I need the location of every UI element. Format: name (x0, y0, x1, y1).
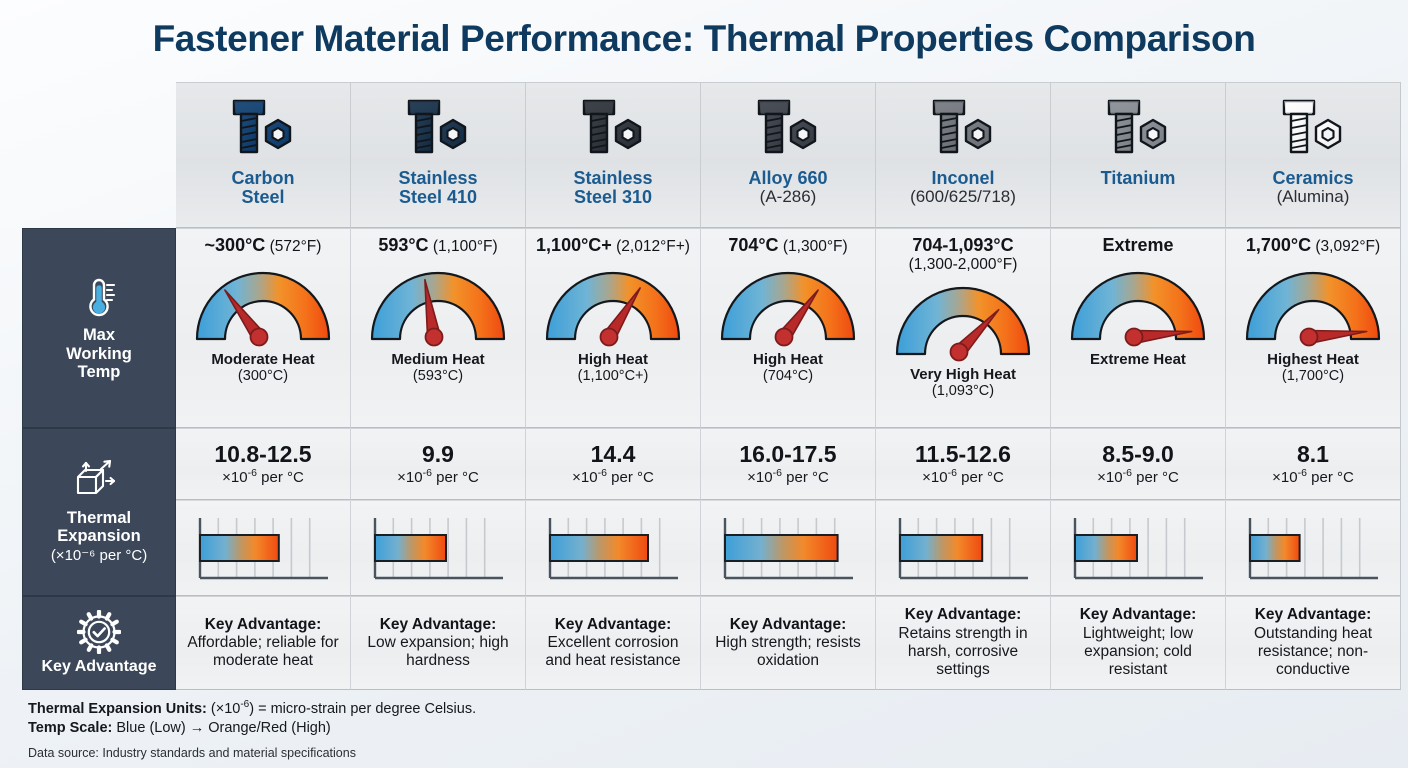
temp-label-sub: (704°C) (753, 368, 823, 385)
heat-gauge-wrap (189, 259, 337, 347)
heat-gauge (889, 276, 1037, 362)
row-label-thermal-expansion: ThermalExpansion(×10⁻⁶ per °C) (22, 428, 176, 596)
heat-gauge-wrap (714, 259, 862, 347)
thermal-expansion-cell-7: 8.1×10-6 per °C (1226, 428, 1401, 596)
expansion-unit: ×10-6 per °C (222, 467, 304, 486)
max-temp-cell-4: 704°C (1,300°F)High Heat(704°C) (701, 228, 876, 428)
temp-label-sub: (1,700°C) (1267, 368, 1359, 385)
expansion-bar-cell (351, 500, 526, 596)
key-advantage-cell-5: Key Advantage:Retains strength in harsh,… (876, 596, 1051, 690)
expansion-value-cell: 8.5-9.0×10-6 per °C (1051, 428, 1226, 500)
expansion-bar-cell (1051, 500, 1226, 596)
heat-gauge (364, 261, 512, 347)
max-temp-cell-1: ~300°C (572°F)Moderate Heat(300°C) (176, 228, 351, 428)
expansion-bar-chart (367, 510, 509, 586)
heat-gauge-wrap (539, 259, 687, 347)
temp-label-sub: (593°C) (391, 368, 484, 385)
expansion-value: 9.9 (422, 442, 454, 466)
row-label-text: ThermalExpansion(×10⁻⁶ per °C) (51, 509, 147, 565)
temp-celsius: Extreme (1102, 235, 1173, 255)
heat-gauge-wrap (889, 274, 1037, 362)
temp-fahrenheit: (572°F) (265, 238, 321, 255)
heat-gauge (1064, 261, 1212, 347)
column-header-4: Alloy 660(A-286) (701, 82, 876, 228)
footer-units-post: ) = micro-strain per degree Celsius. (249, 701, 476, 717)
column-name: Titanium (1101, 169, 1176, 188)
expansion-bar-cell (526, 500, 701, 596)
expansion-unit: ×10-6 per °C (572, 467, 654, 486)
temp-fahrenheit: (1,300°F) (779, 238, 848, 255)
temp-value: 704°C (1,300°F) (728, 235, 847, 259)
temp-fahrenheit: (2,012°F+) (612, 238, 690, 255)
heat-gauge-wrap (1064, 259, 1212, 347)
heat-rating-label: High Heat(704°C) (753, 351, 823, 385)
expansion-value-cell: 8.1×10-6 per °C (1226, 428, 1401, 500)
bolt-and-nut-icon (751, 90, 825, 168)
temp-value: ~300°C (572°F) (205, 235, 322, 259)
key-advantage-cell-6: Key Advantage:Lightweight; low expansion… (1051, 596, 1226, 690)
column-header-2: StainlessSteel 410 (351, 82, 526, 228)
expansion-value-cell: 10.8-12.5×10-6 per °C (176, 428, 351, 500)
footer-notes: Thermal Expansion Units: (×10-6) = micro… (28, 698, 928, 760)
column-header-1: CarbonSteel (176, 82, 351, 228)
temp-label-sub: (1,093°C) (910, 383, 1016, 400)
column-subtitle: (A-286) (760, 188, 817, 207)
bolt-and-nut-icon (1276, 95, 1350, 163)
bolt-and-nut-icon (1101, 95, 1175, 163)
heat-gauge (189, 261, 337, 347)
key-advantage-title: Key Advantage: (555, 616, 672, 634)
column-header-3: StainlessSteel 310 (526, 82, 701, 228)
bolt-and-nut-icon (751, 95, 825, 163)
column-header-7: Ceramics(Alumina) (1226, 82, 1401, 228)
thermal-expansion-cell-3: 14.4×10-6 per °C (526, 428, 701, 596)
bolt-and-nut-icon (401, 95, 475, 163)
expansion-bar-cell (701, 500, 876, 596)
temp-label-sub: (1,100°C+) (578, 368, 649, 385)
key-advantage-text: Affordable; reliable for moderate heat (183, 634, 343, 671)
heat-rating-label: Very High Heat(1,093°C) (910, 366, 1016, 400)
bolt-and-nut-icon (576, 90, 650, 168)
max-temp-cell-2: 593°C (1,100°F)Medium Heat(593°C) (351, 228, 526, 428)
heat-gauge (714, 261, 862, 347)
key-advantage-text: Outstanding heat resistance; non-conduct… (1233, 625, 1393, 680)
key-advantage-cell-2: Key Advantage:Low expansion; high hardne… (351, 596, 526, 690)
key-advantage-cell-1: Key Advantage:Affordable; reliable for m… (176, 596, 351, 690)
row-label-text: MaxWorkingTemp (66, 326, 132, 381)
heat-gauge-wrap (1239, 259, 1387, 347)
key-advantage-title: Key Advantage: (1255, 606, 1372, 624)
expansion-bar-cell (1226, 500, 1401, 596)
thermometer-icon (77, 274, 121, 318)
bolt-and-nut-icon (1276, 90, 1350, 168)
key-advantage-text: Retains strength in harsh, corrosive set… (883, 625, 1043, 680)
footer-source: Data source: Industry standards and mate… (28, 746, 928, 760)
footer-units-sup: -6 (240, 699, 249, 710)
temp-value: 1,700°C (3,092°F) (1246, 235, 1380, 259)
expansion-value-cell: 9.9×10-6 per °C (351, 428, 526, 500)
heat-gauge (539, 261, 687, 347)
temp-celsius: 593°C (378, 235, 428, 255)
column-name: Ceramics (1272, 169, 1353, 188)
temp-value: 704-1,093°C(1,300-2,000°F) (909, 235, 1018, 274)
expansion-value-cell: 16.0-17.5×10-6 per °C (701, 428, 876, 500)
temp-celsius: 704°C (728, 235, 778, 255)
footer-scale-text: Blue (Low) → Orange/Red (High) (112, 720, 330, 736)
key-advantage-text: Low expansion; high hardness (358, 634, 518, 671)
heat-gauge-wrap (364, 259, 512, 347)
expansion-bar-cell (176, 500, 351, 596)
key-advantage-text: Excellent corrosion and heat resistance (533, 634, 693, 671)
column-header-5: Inconel(600/625/718) (876, 82, 1051, 228)
expansion-value-cell: 14.4×10-6 per °C (526, 428, 701, 500)
column-name: CarbonSteel (232, 169, 295, 208)
heat-rating-label: High Heat(1,100°C+) (578, 351, 649, 385)
thermal-expansion-cell-5: 11.5-12.6×10-6 per °C (876, 428, 1051, 596)
max-temp-cell-6: ExtremeExtreme Heat (1051, 228, 1226, 428)
row-label-max-working-temp: MaxWorkingTemp (22, 228, 176, 428)
table-corner (22, 82, 176, 228)
infographic-page: Fastener Material Performance: Thermal P… (0, 0, 1408, 768)
expansion-unit: ×10-6 per °C (922, 467, 1004, 486)
key-advantage-text: Lightweight; low expansion; cold resista… (1058, 625, 1218, 680)
expansion-cube-icon (70, 459, 128, 501)
column-name: Alloy 660 (748, 169, 827, 188)
column-subtitle: (Alumina) (1277, 188, 1350, 207)
column-name: StainlessSteel 310 (573, 169, 652, 208)
row-label-sub: (×10⁻⁶ per °C) (51, 547, 147, 564)
max-temp-cell-5: 704-1,093°C(1,300-2,000°F)Very High Heat… (876, 228, 1051, 428)
temp-celsius: 1,700°C (1246, 235, 1311, 255)
thermal-expansion-cell-4: 16.0-17.5×10-6 per °C (701, 428, 876, 596)
expansion-unit: ×10-6 per °C (747, 467, 829, 486)
column-header-6: Titanium (1051, 82, 1226, 228)
bolt-and-nut-icon (926, 90, 1000, 168)
temp-value: 593°C (1,100°F) (378, 235, 497, 259)
key-advantage-text: High strength; resists oxidation (708, 634, 868, 671)
thermal-expansion-cell-2: 9.9×10-6 per °C (351, 428, 526, 596)
column-subtitle: (600/625/718) (910, 188, 1016, 207)
column-name: Inconel (931, 169, 994, 188)
expansion-bar-chart (717, 510, 859, 586)
gear-check-icon (77, 610, 121, 654)
thermometer-icon (77, 274, 121, 318)
temp-celsius: 704-1,093°C (912, 235, 1013, 255)
key-advantage-title: Key Advantage: (1080, 606, 1197, 624)
footer-line-units: Thermal Expansion Units: (×10-6) = micro… (28, 698, 928, 719)
key-advantage-cell-7: Key Advantage:Outstanding heat resistanc… (1226, 596, 1401, 690)
gear-check-icon (77, 610, 121, 654)
expansion-unit: ×10-6 per °C (397, 467, 479, 486)
expansion-bar-chart (542, 510, 684, 586)
key-advantage-cell-3: Key Advantage:Excellent corrosion and he… (526, 596, 701, 690)
expansion-cube-icon (70, 459, 128, 501)
bolt-and-nut-icon (226, 95, 300, 163)
key-advantage-title: Key Advantage: (730, 616, 847, 634)
temp-value: Extreme (1102, 235, 1173, 259)
page-title: Fastener Material Performance: Thermal P… (0, 18, 1408, 60)
column-name: StainlessSteel 410 (398, 169, 477, 208)
expansion-bar-cell (876, 500, 1051, 596)
bolt-and-nut-icon (1101, 90, 1175, 168)
key-advantage-cell-4: Key Advantage:High strength; resists oxi… (701, 596, 876, 690)
expansion-bar-chart (1242, 510, 1384, 586)
key-advantage-title: Key Advantage: (905, 606, 1022, 624)
temp-value: 1,100°C+ (2,012°F+) (536, 235, 690, 259)
footer-line-scale: Temp Scale: Blue (Low) → Orange/Red (Hig… (28, 719, 928, 738)
temp-fahrenheit: (3,092°F) (1311, 238, 1380, 255)
expansion-unit: ×10-6 per °C (1272, 467, 1354, 486)
expansion-value: 11.5-12.6 (915, 442, 1011, 466)
bolt-and-nut-icon (926, 95, 1000, 163)
thermal-expansion-cell-6: 8.5-9.0×10-6 per °C (1051, 428, 1226, 596)
heat-rating-label: Extreme Heat (1090, 351, 1186, 368)
expansion-value: 10.8-12.5 (214, 442, 311, 466)
thermal-expansion-cell-1: 10.8-12.5×10-6 per °C (176, 428, 351, 596)
expansion-bar-chart (1067, 510, 1209, 586)
bolt-and-nut-icon (576, 95, 650, 163)
temp-label-sub: (300°C) (211, 368, 314, 385)
footer-units-pre: (×10 (207, 701, 240, 717)
bolt-and-nut-icon (226, 90, 300, 168)
expansion-bar-chart (192, 510, 334, 586)
bolt-and-nut-icon (401, 90, 475, 168)
max-temp-cell-3: 1,100°C+ (2,012°F+)High Heat(1,100°C+) (526, 228, 701, 428)
expansion-unit: ×10-6 per °C (1097, 467, 1179, 486)
row-label-key-advantage: Key Advantage (22, 596, 176, 690)
row-label-text: Key Advantage (42, 658, 157, 676)
expansion-value-cell: 11.5-12.6×10-6 per °C (876, 428, 1051, 500)
footer-units-label: Thermal Expansion Units: (28, 701, 207, 717)
temp-celsius: ~300°C (205, 235, 266, 255)
temp-fahrenheit: (1,100°F) (429, 238, 498, 255)
temp-fahrenheit-range: (1,300-2,000°F) (909, 256, 1018, 274)
expansion-bar-chart (892, 510, 1034, 586)
key-advantage-title: Key Advantage: (380, 616, 497, 634)
expansion-value: 14.4 (591, 442, 636, 466)
expansion-value: 8.1 (1297, 442, 1329, 466)
max-temp-cell-7: 1,700°C (3,092°F)Highest Heat(1,700°C) (1226, 228, 1401, 428)
footer-scale-label: Temp Scale: (28, 720, 112, 736)
temp-celsius: 1,100°C+ (536, 235, 612, 255)
heat-rating-label: Medium Heat(593°C) (391, 351, 484, 385)
comparison-table: CarbonSteelStainlessSteel 410StainlessSt… (22, 82, 1386, 690)
heat-rating-label: Moderate Heat(300°C) (211, 351, 314, 385)
heat-rating-label: Highest Heat(1,700°C) (1267, 351, 1359, 385)
expansion-value: 16.0-17.5 (739, 442, 836, 466)
expansion-value: 8.5-9.0 (1102, 442, 1174, 466)
heat-gauge (1239, 261, 1387, 347)
key-advantage-title: Key Advantage: (205, 616, 322, 634)
